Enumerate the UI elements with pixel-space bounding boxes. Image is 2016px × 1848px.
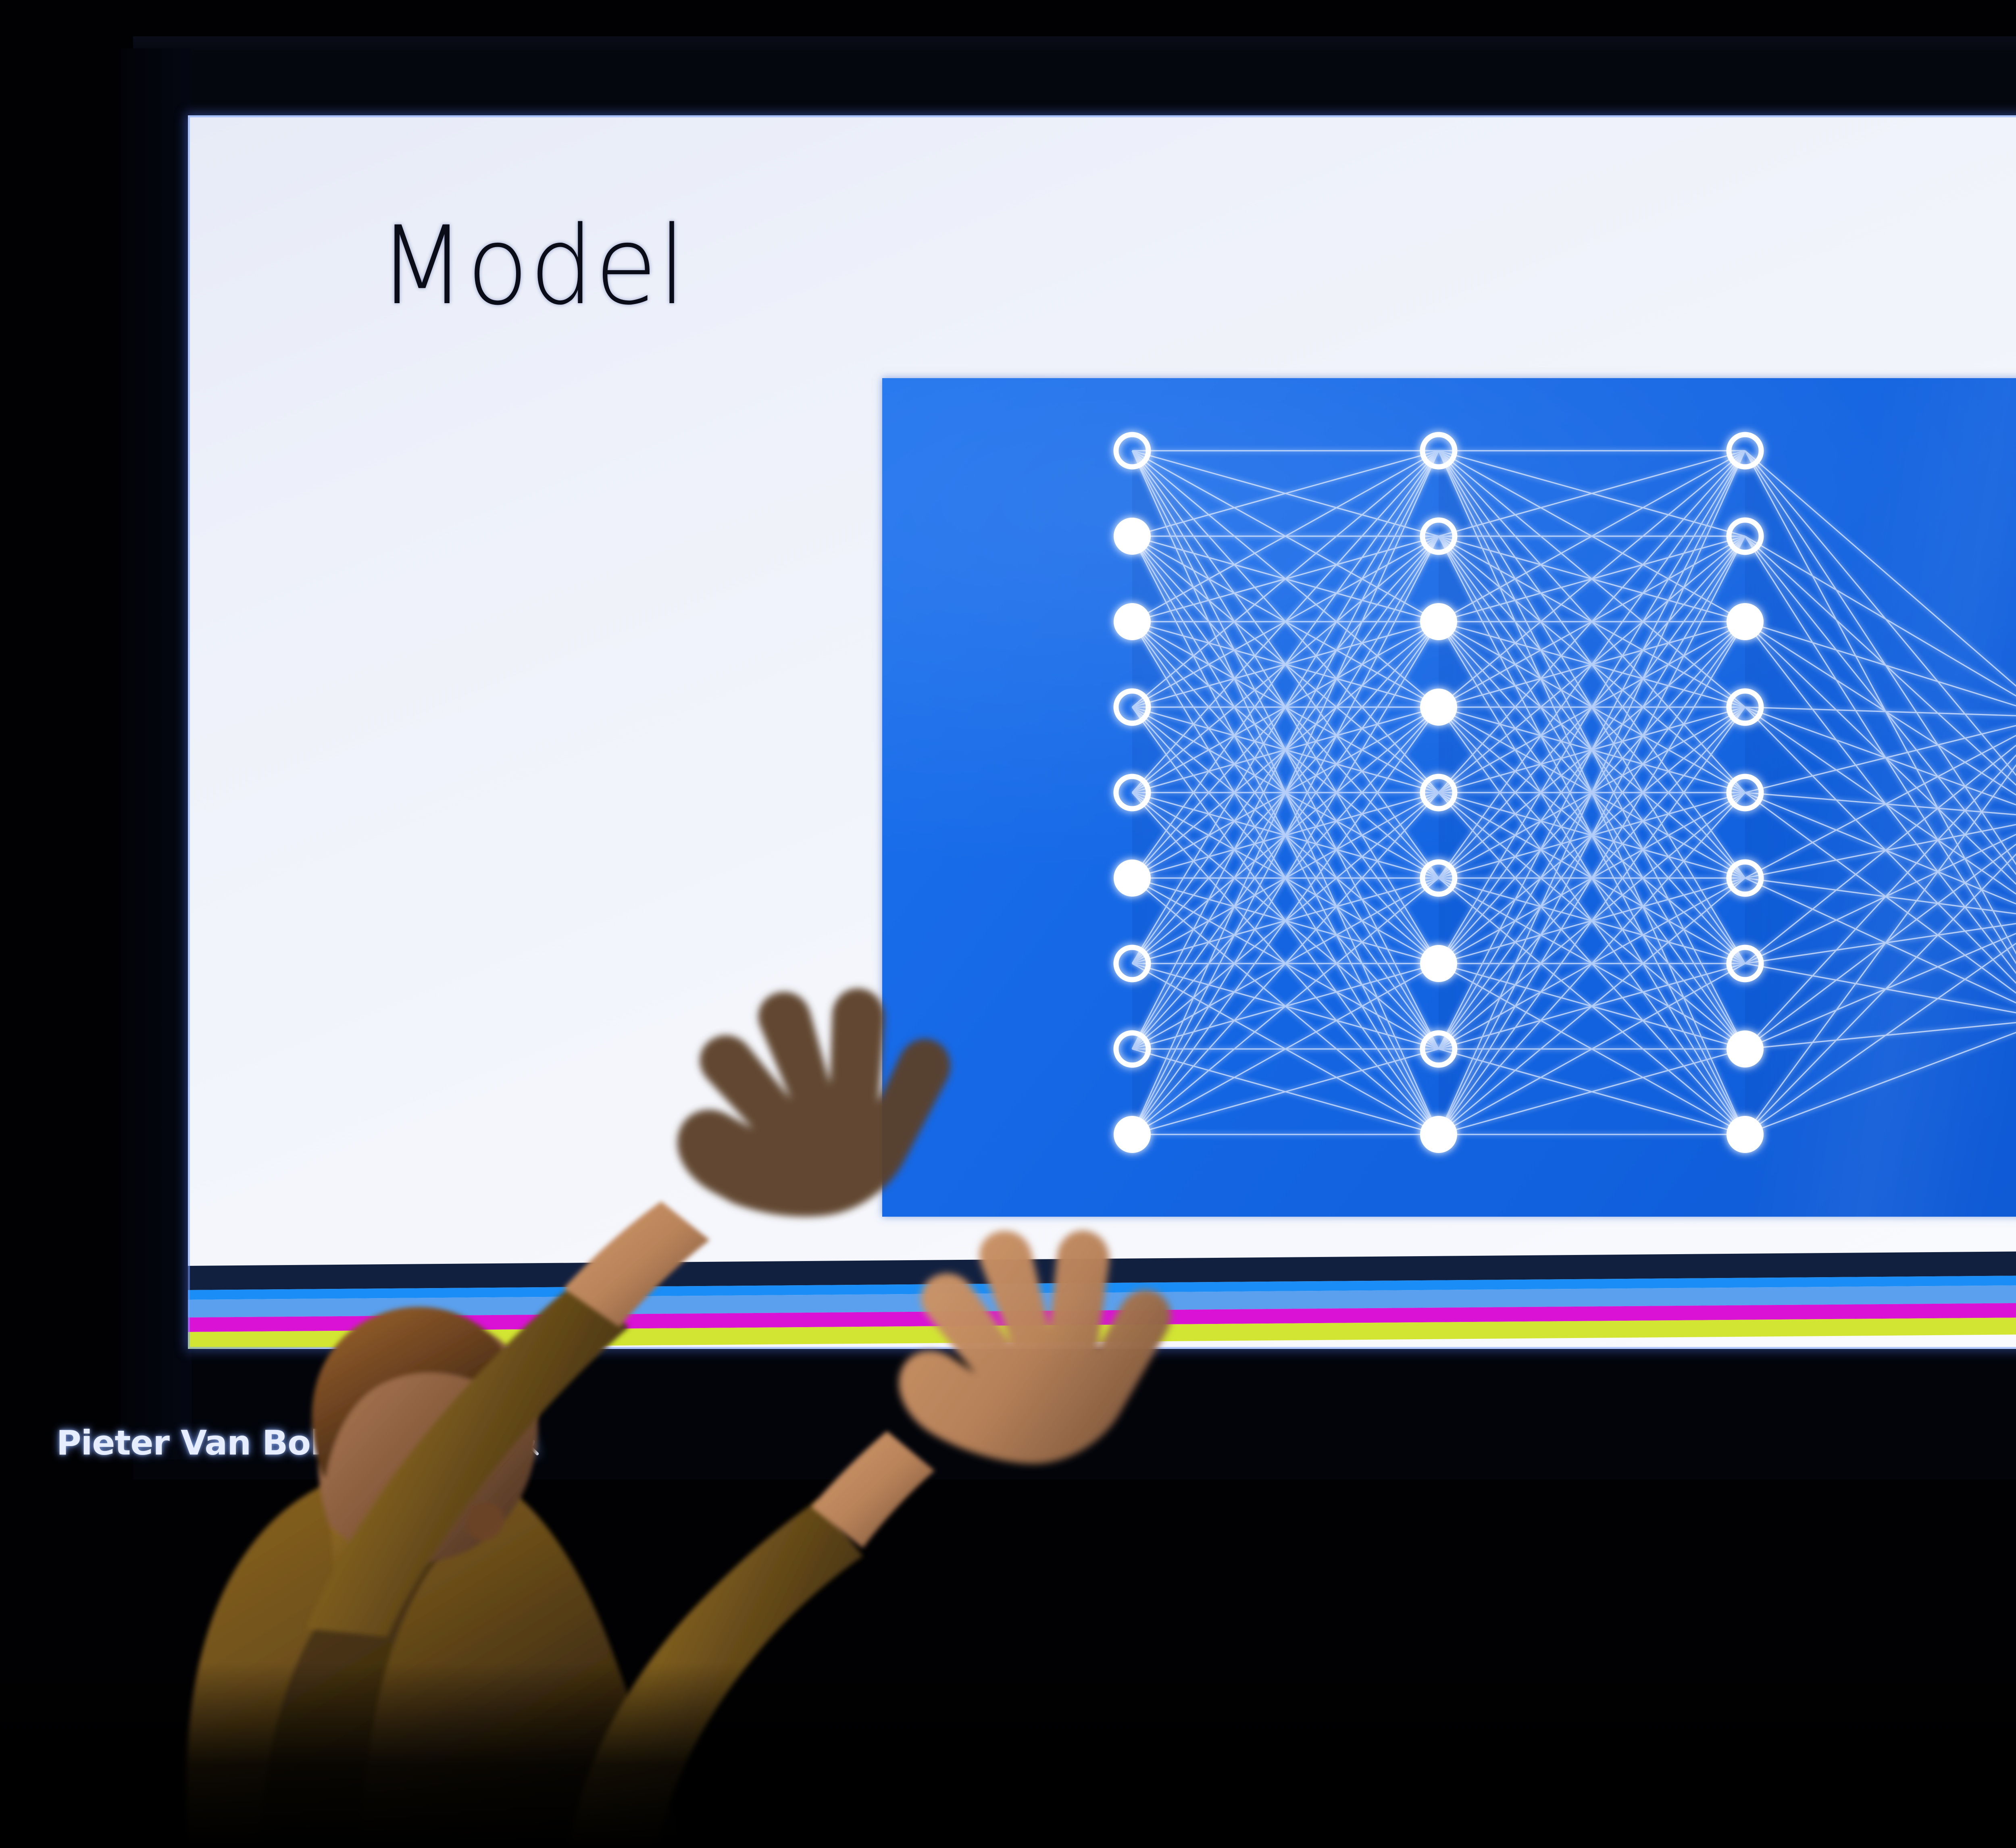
page-title: Model (378, 212, 687, 320)
microphone-muted-icon (511, 1428, 541, 1458)
neural-network-svg (882, 378, 2016, 1217)
screen-share-icon (471, 1428, 501, 1458)
background-wedges (1132, 451, 2016, 1136)
neural-network-diagram (882, 378, 2016, 1217)
presenter-name-bar: Pieter Van Boheemen (56, 1423, 541, 1463)
display-bezel-top-edge (133, 36, 2016, 55)
bottom-vignette (0, 1663, 2016, 1848)
display-bezel-left-edge (121, 48, 192, 1459)
slide-color-stripes (188, 1249, 2016, 1349)
screenshot-stage: Model (0, 0, 2016, 1848)
presenter-name-label: Pieter Van Boheemen (56, 1423, 460, 1463)
presentation-slide: Model (188, 115, 2016, 1349)
